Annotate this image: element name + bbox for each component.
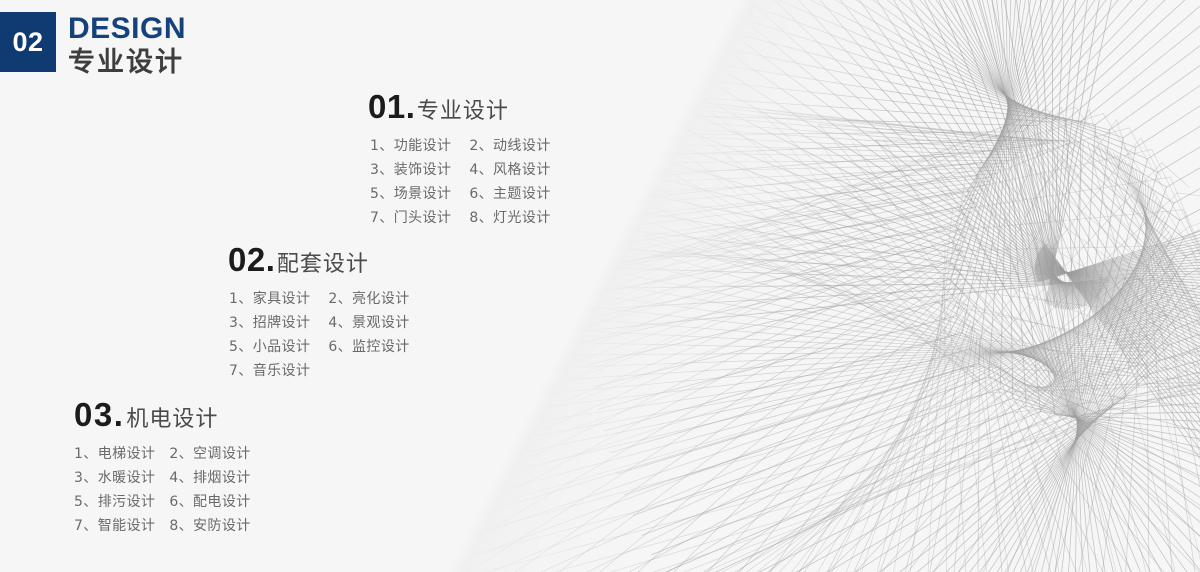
content-block-02: 02 . 配套设计 1、家具设计2、亮化设计3、招牌设计4、景观设计5、小品设计… [228, 243, 410, 383]
block-label-03: 机电设计 [126, 409, 218, 431]
block-title-01: 01 . 专业设计 [368, 90, 551, 123]
list-item: 8、灯光设计 [469, 206, 550, 230]
list-item: 1、功能设计 [370, 134, 451, 158]
section-badge-number: 02 [12, 29, 43, 56]
list-item: 6、监控设计 [328, 335, 409, 359]
block-dot-02: . [266, 243, 275, 276]
list-item: 2、空调设计 [169, 442, 250, 466]
list-item: 6、配电设计 [169, 490, 250, 514]
list-item: 3、招牌设计 [229, 311, 310, 335]
page-title-en: DESIGN [68, 14, 186, 45]
list-item: 3、水暖设计 [74, 466, 155, 490]
list-item: 2、动线设计 [469, 134, 550, 158]
block-item-list-03: 1、电梯设计2、空调设计3、水暖设计4、排烟设计5、排污设计6、配电设计7、智能… [74, 442, 251, 538]
block-number-03: 03 [74, 398, 114, 431]
list-item: 4、排烟设计 [169, 466, 250, 490]
list-item: 5、场景设计 [370, 182, 451, 206]
list-item: 7、智能设计 [74, 514, 155, 538]
block-number-01: 01 [368, 90, 406, 123]
list-item: 5、小品设计 [229, 335, 310, 359]
slide-canvas: 02 DESIGN 专业设计 01 . 专业设计 1、功能设计2、动线设计3、装… [0, 0, 1200, 572]
content-block-01: 01 . 专业设计 1、功能设计2、动线设计3、装饰设计4、风格设计5、场景设计… [368, 90, 551, 230]
block-item-list-01: 1、功能设计2、动线设计3、装饰设计4、风格设计5、场景设计6、主题设计7、门头… [368, 134, 551, 230]
block-label-02: 配套设计 [277, 254, 369, 276]
block-item-list-02: 1、家具设计2、亮化设计3、招牌设计4、景观设计5、小品设计6、监控设计7、音乐… [228, 287, 410, 383]
block-dot-03: . [114, 398, 125, 431]
list-item: 3、装饰设计 [370, 158, 451, 182]
section-badge: 02 [0, 12, 56, 72]
block-dot-01: . [406, 90, 415, 123]
page-title-cn: 专业设计 [68, 49, 186, 77]
block-label-01: 专业设计 [417, 101, 509, 123]
page-title: DESIGN 专业设计 [68, 14, 186, 77]
list-item: 6、主题设计 [469, 182, 550, 206]
list-item: 5、排污设计 [74, 490, 155, 514]
list-item: 1、家具设计 [229, 287, 310, 311]
block-title-03: 03 . 机电设计 [74, 398, 251, 431]
list-item: 7、音乐设计 [229, 359, 310, 383]
content-block-03: 03 . 机电设计 1、电梯设计2、空调设计3、水暖设计4、排烟设计5、排污设计… [74, 398, 251, 538]
block-title-02: 02 . 配套设计 [228, 243, 410, 276]
list-item: 2、亮化设计 [328, 287, 409, 311]
list-item: 1、电梯设计 [74, 442, 155, 466]
list-item: 8、安防设计 [169, 514, 250, 538]
list-item: 4、风格设计 [469, 158, 550, 182]
list-item: 7、门头设计 [370, 206, 451, 230]
block-number-02: 02 [228, 243, 266, 276]
list-item: 4、景观设计 [328, 311, 409, 335]
